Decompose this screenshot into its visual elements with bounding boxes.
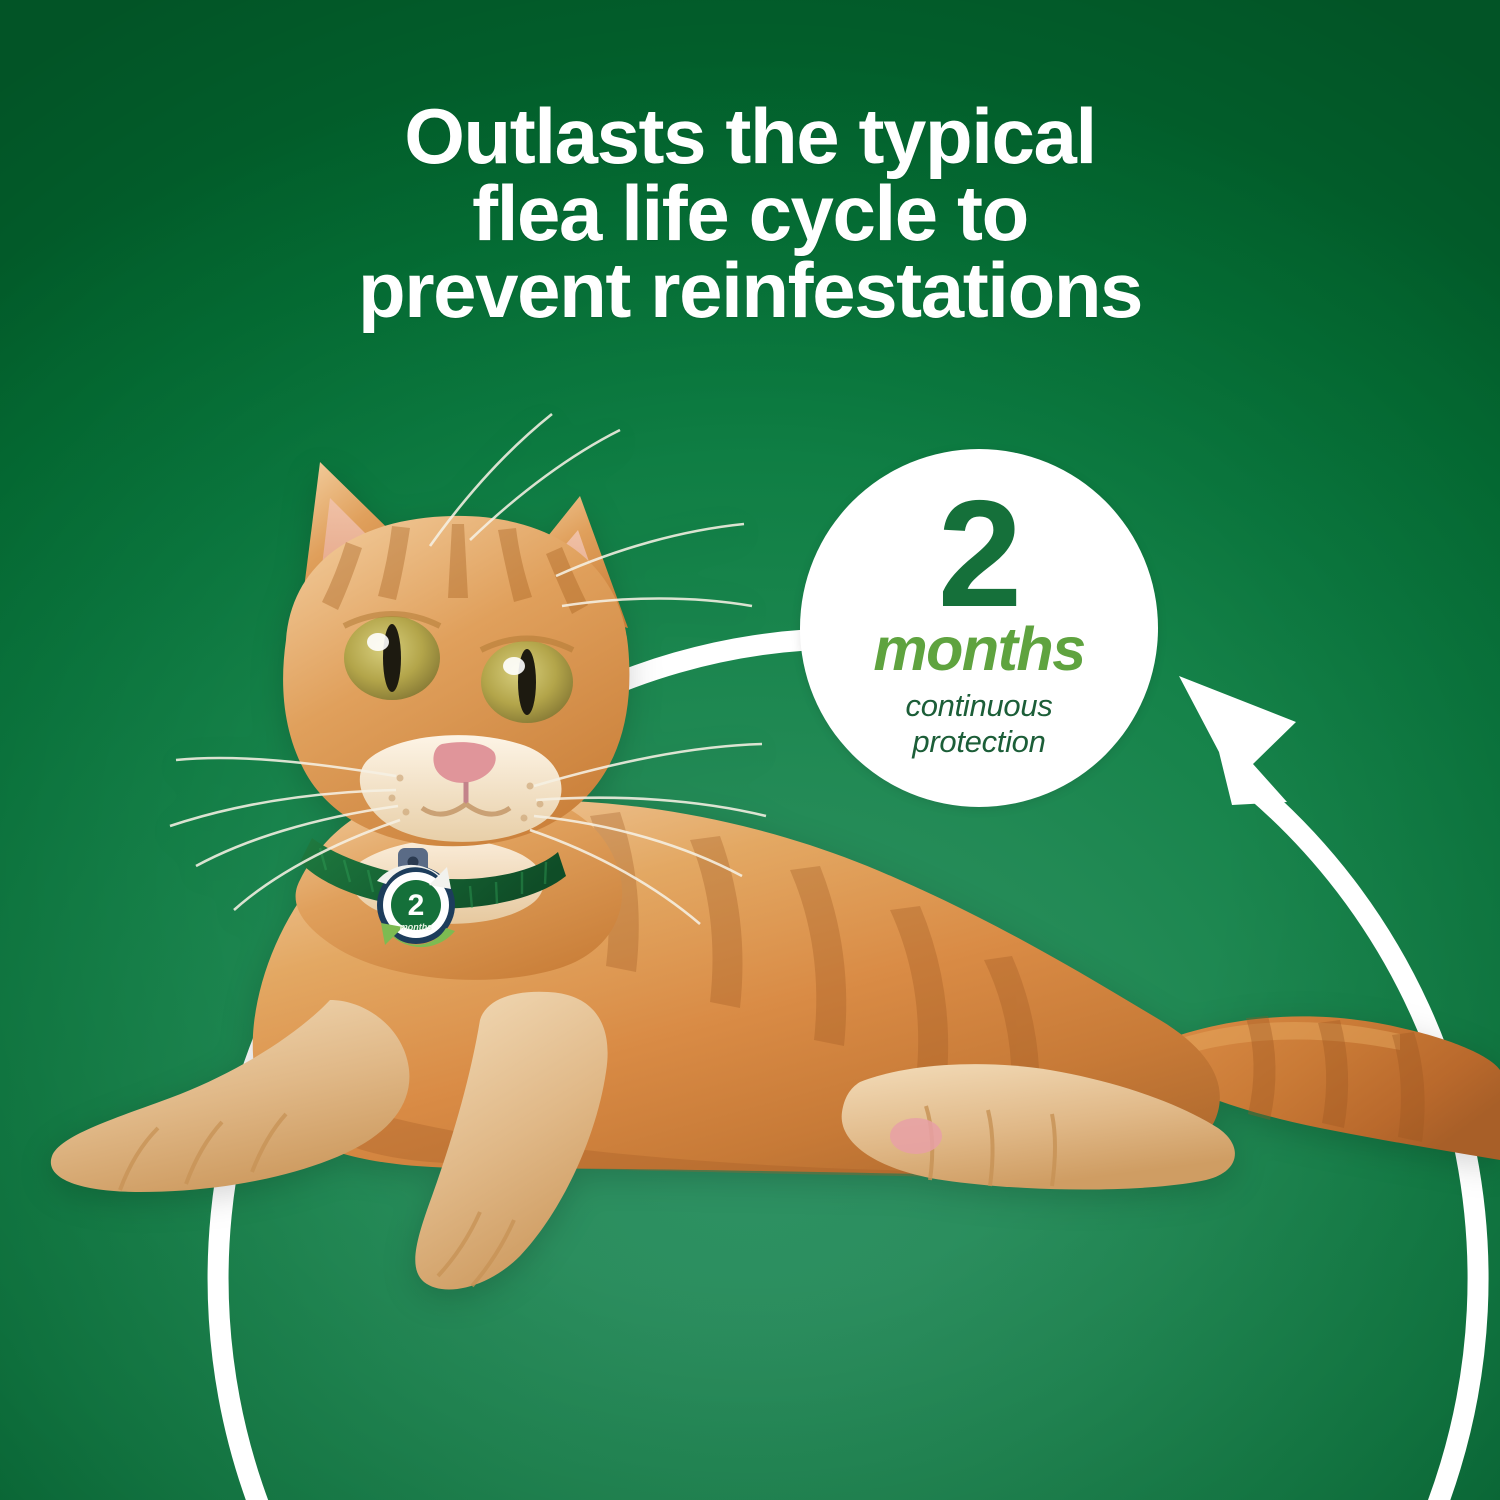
svg-text:months: months	[400, 922, 433, 932]
cat-photo: 2 months	[0, 0, 1500, 1500]
collar-tag: 2 months	[377, 865, 455, 947]
badge-subtext: continuous protection	[906, 688, 1053, 760]
badge-unit: months	[873, 619, 1084, 680]
marketing-image-canvas: Outlasts the typical flea life cycle to …	[0, 0, 1500, 1500]
cat-paw-pad	[890, 1118, 942, 1154]
cat-body-group: 2 months	[51, 414, 1500, 1290]
badge-subtext-line-1: continuous	[906, 688, 1053, 723]
svg-text:2: 2	[408, 889, 425, 922]
cat-front-paw-left	[51, 1000, 410, 1192]
status-badge: 2 months continuous protection	[800, 449, 1158, 807]
badge-number: 2	[938, 492, 1021, 617]
badge-subtext-line-2: protection	[912, 724, 1045, 759]
